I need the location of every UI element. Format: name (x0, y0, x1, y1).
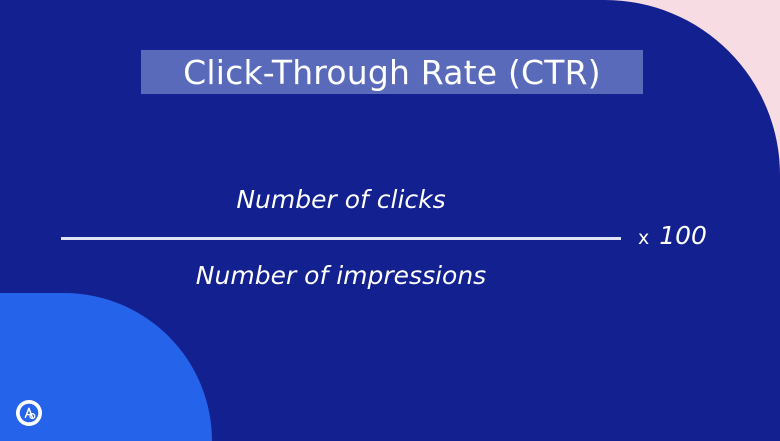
title-highlight-band: Click-Through Rate (CTR) (141, 50, 643, 94)
ctr-formula: Number of clicks Number of impressions x… (61, 170, 719, 300)
formula-numerator: Number of clicks (61, 187, 621, 212)
slide-canvas: Click-Through Rate (CTR) Number of click… (0, 0, 780, 441)
page-title: Click-Through Rate (CTR) (183, 56, 601, 89)
formula-multiplier: x 100 (638, 221, 707, 250)
analytics-a-logo-icon (16, 400, 42, 426)
multiply-sign: x (638, 227, 649, 249)
multiplier-value: 100 (659, 221, 707, 250)
fraction-bar (61, 237, 621, 240)
formula-fraction: Number of clicks Number of impressions (61, 170, 621, 300)
formula-denominator: Number of impressions (61, 263, 621, 288)
